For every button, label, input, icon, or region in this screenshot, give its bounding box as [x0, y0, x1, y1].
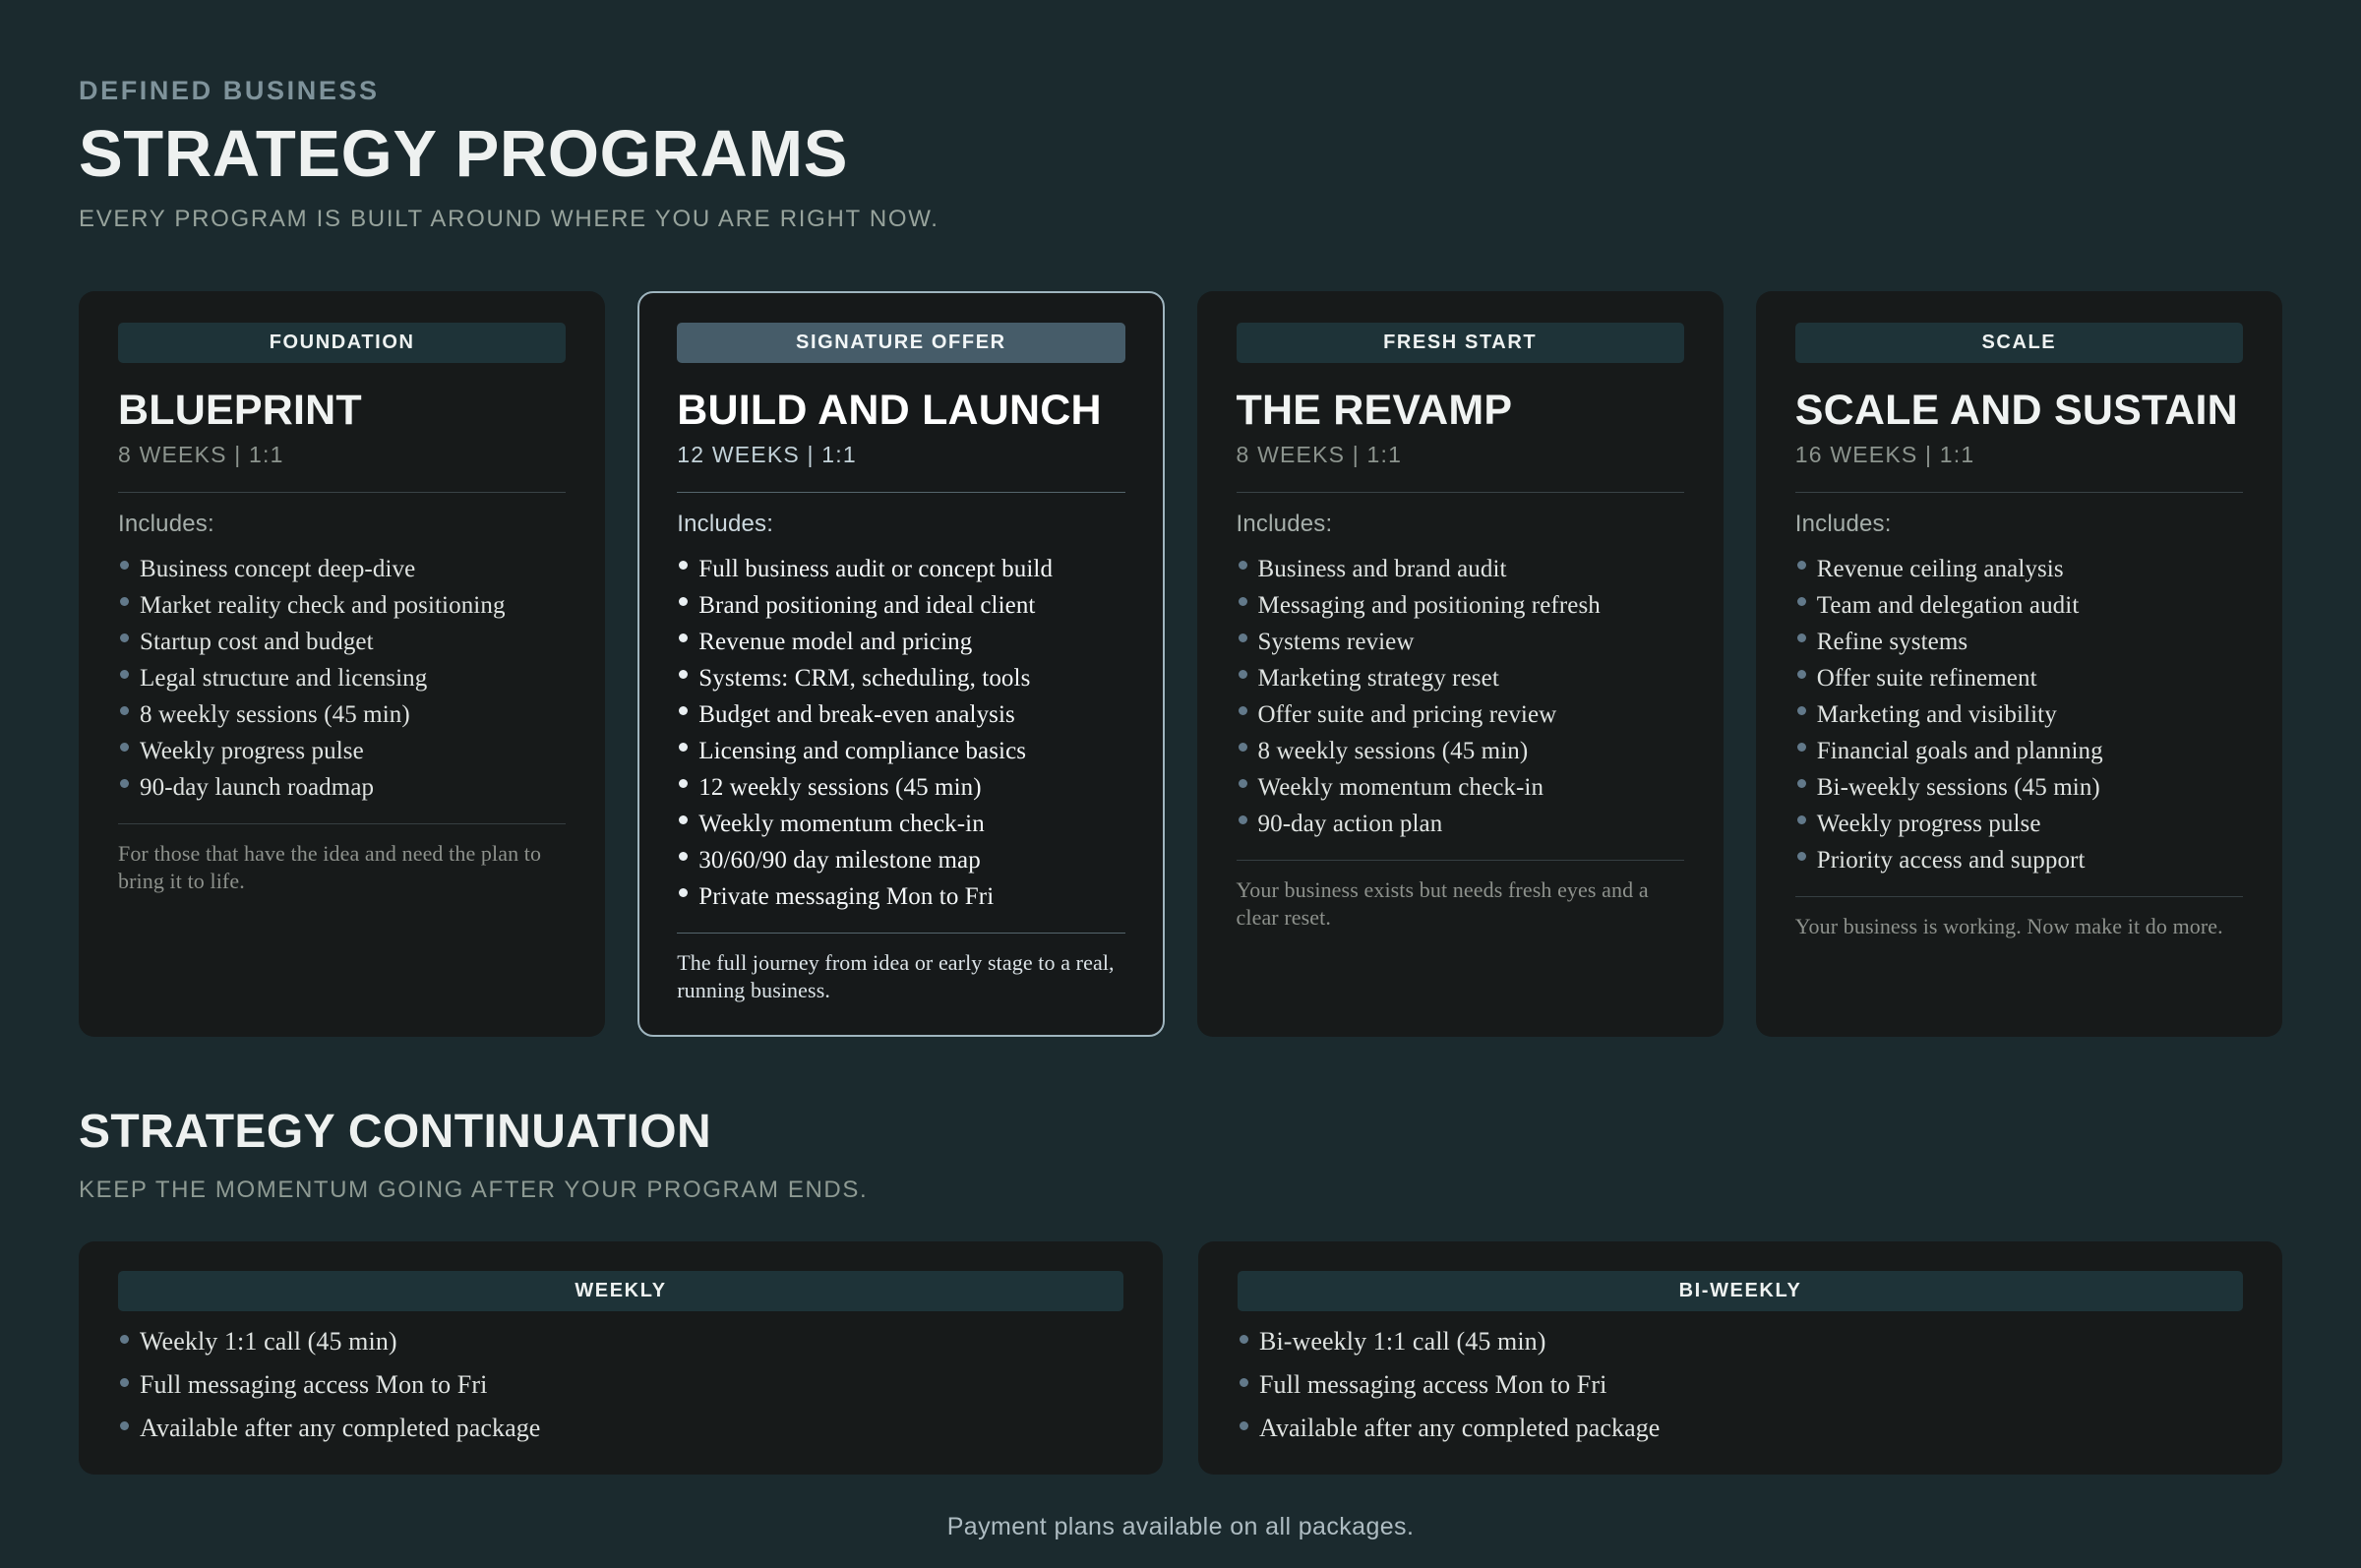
includes-label: Includes: — [677, 511, 1124, 539]
feature-item: Weekly progress pulse — [118, 739, 566, 763]
feature-item: Full messaging access Mon to Fri — [118, 1372, 1123, 1398]
feature-item: Legal structure and licensing — [118, 666, 566, 691]
payment-plans-note: Payment plans available on all packages. — [0, 1513, 2361, 1541]
feature-item: Private messaging Mon to Fri — [677, 884, 1124, 909]
continuation-title: STRATEGY CONTINUATION — [79, 1107, 868, 1159]
program-badge: FRESH START — [1237, 323, 1684, 363]
feature-item: 90-day launch roadmap — [118, 775, 566, 800]
program-title: BLUEPRINT — [118, 390, 566, 433]
page-header: DEFINED BUSINESS STRATEGY PROGRAMS EVERY… — [79, 77, 1653, 234]
divider — [1237, 860, 1684, 861]
eyebrow-label: DEFINED BUSINESS — [79, 77, 1653, 106]
feature-item: 8 weekly sessions (45 min) — [118, 702, 566, 727]
program-badge: SIGNATURE OFFER — [677, 323, 1124, 363]
program-card[interactable]: SCALESCALE AND SUSTAIN16 WEEKS | 1:1Incl… — [1756, 291, 2282, 1037]
program-badge: SCALE — [1795, 323, 2243, 363]
continuation-feature-list: Weekly 1:1 call (45 min)Full messaging a… — [118, 1329, 1123, 1441]
program-badge: FOUNDATION — [118, 323, 566, 363]
feature-item: Revenue model and pricing — [677, 630, 1124, 654]
feature-item: Offer suite refinement — [1795, 666, 2243, 691]
feature-item: Systems: CRM, scheduling, tools — [677, 666, 1124, 691]
feature-item: Revenue ceiling analysis — [1795, 557, 2243, 581]
divider — [677, 492, 1124, 493]
continuation-badge: WEEKLY — [118, 1271, 1123, 1311]
feature-item: Offer suite and pricing review — [1237, 702, 1684, 727]
feature-item: Startup cost and budget — [118, 630, 566, 654]
program-feature-list: Business and brand auditMessaging and po… — [1237, 545, 1684, 836]
feature-item: Weekly momentum check-in — [1237, 775, 1684, 800]
feature-item: Full messaging access Mon to Fri — [1238, 1372, 2243, 1398]
program-title: SCALE AND SUSTAIN — [1795, 390, 2243, 433]
feature-item: 30/60/90 day milestone map — [677, 848, 1124, 873]
continuation-header: STRATEGY CONTINUATION KEEP THE MOMENTUM … — [79, 1107, 868, 1205]
divider — [1237, 492, 1684, 493]
feature-item: Weekly 1:1 call (45 min) — [118, 1329, 1123, 1355]
program-feature-list: Revenue ceiling analysisTeam and delegat… — [1795, 545, 2243, 873]
program-note: Your business exists but needs fresh eye… — [1237, 876, 1684, 932]
feature-item: Marketing and visibility — [1795, 702, 2243, 727]
feature-item: Market reality check and positioning — [118, 593, 566, 618]
program-title: THE REVAMP — [1237, 390, 1684, 433]
feature-item: Business and brand audit — [1237, 557, 1684, 581]
feature-item: Marketing strategy reset — [1237, 666, 1684, 691]
program-duration-format: 8 WEEKS | 1:1 — [118, 442, 566, 469]
program-duration-format: 8 WEEKS | 1:1 — [1237, 442, 1684, 469]
program-note: For those that have the idea and need th… — [118, 840, 566, 895]
feature-item: 8 weekly sessions (45 min) — [1237, 739, 1684, 763]
page-subtitle: EVERY PROGRAM IS BUILT AROUND WHERE YOU … — [79, 206, 1653, 234]
continuation-subtitle: KEEP THE MOMENTUM GOING AFTER YOUR PROGR… — [79, 1176, 868, 1205]
feature-item: Team and delegation audit — [1795, 593, 2243, 618]
feature-item: Messaging and positioning refresh — [1237, 593, 1684, 618]
program-duration-format: 12 WEEKS | 1:1 — [677, 442, 1124, 469]
feature-item: Financial goals and planning — [1795, 739, 2243, 763]
feature-item: Budget and break-even analysis — [677, 702, 1124, 727]
continuation-card-grid: WEEKLYWeekly 1:1 call (45 min)Full messa… — [79, 1241, 2282, 1475]
feature-item: Weekly momentum check-in — [677, 812, 1124, 836]
feature-item: 90-day action plan — [1237, 812, 1684, 836]
feature-item: Brand positioning and ideal client — [677, 593, 1124, 618]
feature-item: Available after any completed package — [118, 1416, 1123, 1441]
program-duration-format: 16 WEEKS | 1:1 — [1795, 442, 2243, 469]
feature-item: Refine systems — [1795, 630, 2243, 654]
program-note: Your business is working. Now make it do… — [1795, 913, 2243, 940]
page-title: STRATEGY PROGRAMS — [79, 119, 1653, 190]
divider — [118, 823, 566, 824]
program-feature-list: Business concept deep-diveMarket reality… — [118, 545, 566, 800]
divider — [118, 492, 566, 493]
feature-item: Full business audit or concept build — [677, 557, 1124, 581]
feature-item: Systems review — [1237, 630, 1684, 654]
divider — [677, 933, 1124, 934]
program-feature-list: Full business audit or concept buildBran… — [677, 545, 1124, 909]
feature-item: 12 weekly sessions (45 min) — [677, 775, 1124, 800]
program-note: The full journey from idea or early stag… — [677, 949, 1124, 1004]
feature-item: Business concept deep-dive — [118, 557, 566, 581]
program-card[interactable]: FRESH STARTTHE REVAMP8 WEEKS | 1:1Includ… — [1197, 291, 1724, 1037]
feature-item: Licensing and compliance basics — [677, 739, 1124, 763]
includes-label: Includes: — [1237, 511, 1684, 539]
program-card-grid: FOUNDATIONBLUEPRINT8 WEEKS | 1:1Includes… — [79, 291, 2282, 1037]
feature-item: Priority access and support — [1795, 848, 2243, 873]
program-card[interactable]: FOUNDATIONBLUEPRINT8 WEEKS | 1:1Includes… — [79, 291, 605, 1037]
divider — [1795, 492, 2243, 493]
includes-label: Includes: — [118, 511, 566, 539]
continuation-card[interactable]: BI-WEEKLYBi-weekly 1:1 call (45 min)Full… — [1198, 1241, 2282, 1475]
continuation-badge: BI-WEEKLY — [1238, 1271, 2243, 1311]
feature-item: Available after any completed package — [1238, 1416, 2243, 1441]
divider — [1795, 896, 2243, 897]
feature-item: Weekly progress pulse — [1795, 812, 2243, 836]
continuation-feature-list: Bi-weekly 1:1 call (45 min)Full messagin… — [1238, 1329, 2243, 1441]
feature-item: Bi-weekly sessions (45 min) — [1795, 775, 2243, 800]
continuation-card[interactable]: WEEKLYWeekly 1:1 call (45 min)Full messa… — [79, 1241, 1163, 1475]
feature-item: Bi-weekly 1:1 call (45 min) — [1238, 1329, 2243, 1355]
includes-label: Includes: — [1795, 511, 2243, 539]
program-title: BUILD AND LAUNCH — [677, 390, 1124, 433]
program-card[interactable]: SIGNATURE OFFERBUILD AND LAUNCH12 WEEKS … — [637, 291, 1164, 1037]
page-root: DEFINED BUSINESS STRATEGY PROGRAMS EVERY… — [0, 0, 2361, 1568]
